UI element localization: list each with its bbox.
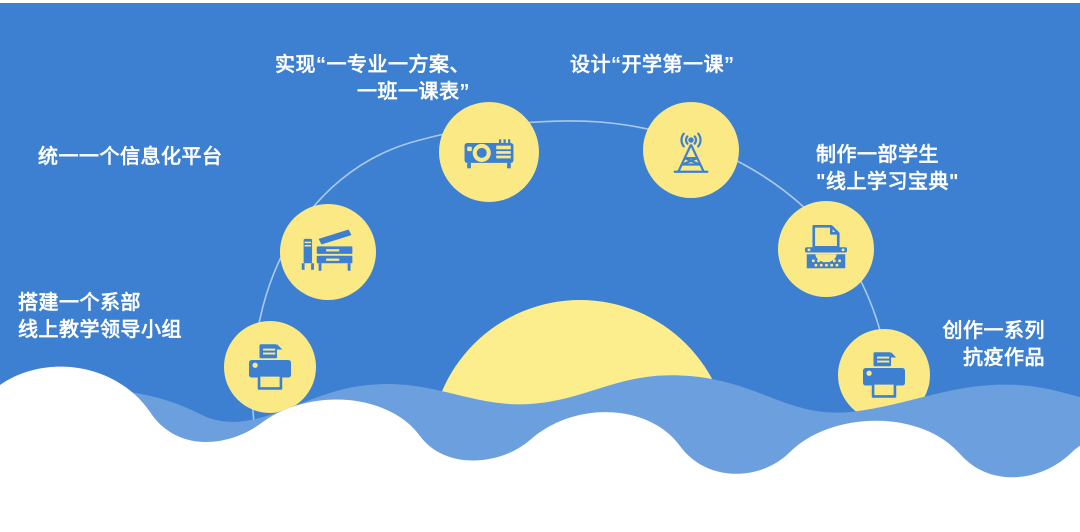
label-unified-platform: 统一一个信息化平台 bbox=[38, 144, 298, 171]
node-one-plan-one-schedule[interactable] bbox=[439, 102, 539, 202]
label-online-study-guide: 制作一部学生 "线上学习宝典" bbox=[816, 142, 1051, 195]
node-first-lesson[interactable] bbox=[643, 102, 739, 198]
projector-icon bbox=[460, 123, 518, 181]
top-white-strip bbox=[0, 0, 1080, 3]
printer-icon bbox=[242, 339, 298, 395]
broadcast-tower-icon bbox=[662, 121, 720, 179]
node-unified-platform[interactable] bbox=[280, 204, 376, 300]
copier-icon bbox=[298, 222, 358, 282]
infographic-poster: 六个“一” 搭建一个系部 线上教学领导小组 bbox=[0, 0, 1080, 532]
label-leadership-group: 搭建一个系部 线上教学领导小组 bbox=[18, 290, 248, 343]
label-anti-epidemic-works: 创作一系列 抗疫作品 bbox=[860, 318, 1045, 371]
node-online-study-guide[interactable] bbox=[778, 201, 874, 297]
label-first-lesson: 设计“开学第一课” bbox=[570, 52, 820, 79]
page-title: 六个“一” bbox=[410, 400, 750, 445]
label-one-plan-one-schedule: 实现“一专业一方案、 一班一课表” bbox=[205, 52, 470, 105]
typewriter-icon bbox=[798, 221, 854, 277]
